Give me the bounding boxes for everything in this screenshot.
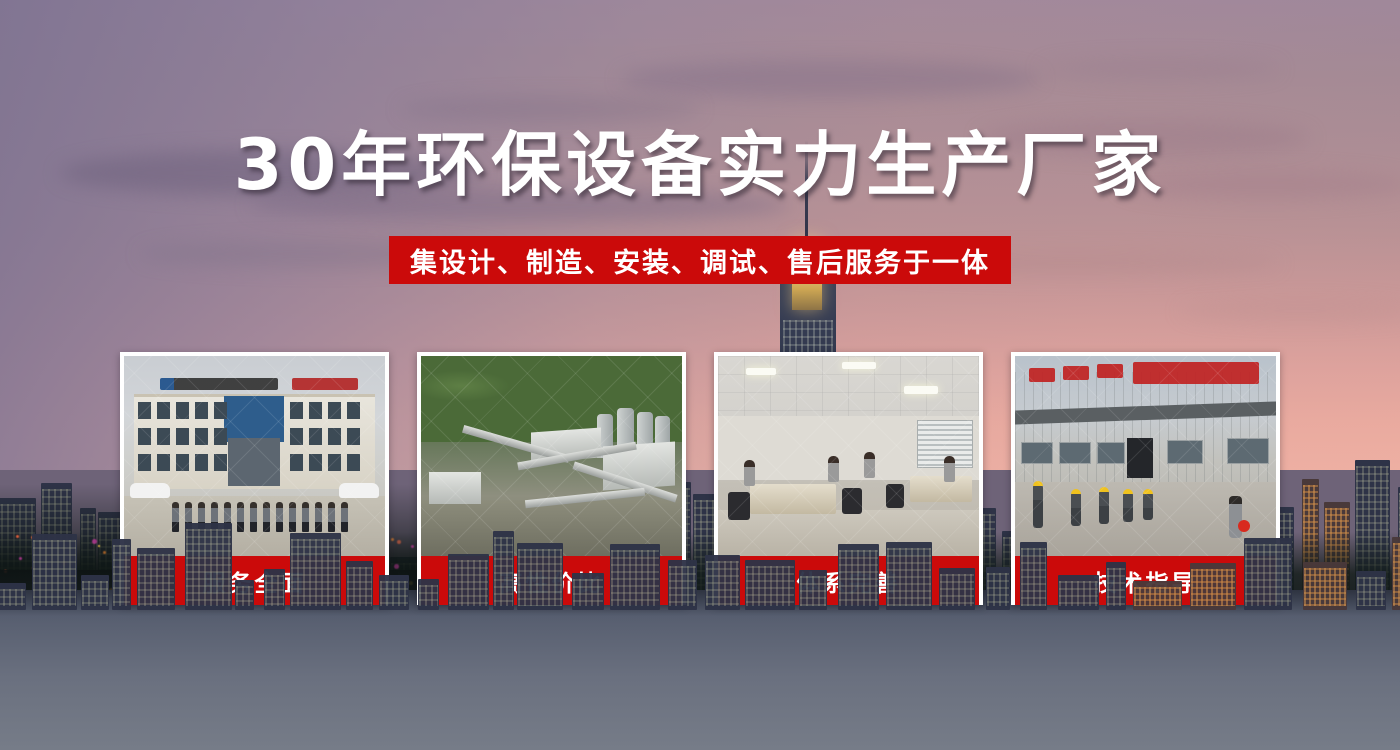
- desk: [750, 484, 836, 514]
- building-window: [176, 454, 189, 471]
- office-chair: [886, 484, 904, 508]
- river-water: [0, 590, 1400, 750]
- card-photo-headquarters: [124, 356, 385, 556]
- building: [986, 567, 1010, 610]
- building: [81, 575, 109, 610]
- building: [448, 554, 489, 610]
- staff-member: [250, 502, 257, 532]
- company-sign: [160, 378, 278, 390]
- plant-hall: [429, 472, 481, 504]
- office-worker: [864, 452, 875, 478]
- building: [517, 543, 563, 610]
- building-window: [309, 402, 322, 419]
- card-photo-office: [718, 356, 979, 556]
- building: [1303, 562, 1347, 610]
- hardhat-icon: [1033, 481, 1043, 486]
- factory-slogan-large: [1133, 362, 1259, 384]
- building: [886, 542, 932, 610]
- building-window: [138, 428, 151, 445]
- building: [264, 569, 285, 610]
- staff-member: [341, 502, 348, 532]
- building-window: [309, 454, 322, 471]
- building-window: [157, 402, 170, 419]
- building-atrium-glass: [224, 396, 284, 442]
- factory-door: [1127, 438, 1153, 478]
- street-light: [92, 539, 97, 544]
- building: [1020, 542, 1047, 610]
- building: [838, 544, 879, 610]
- building-window: [176, 402, 189, 419]
- building: [0, 583, 26, 610]
- building-window: [347, 428, 360, 445]
- building-entrance: [228, 438, 280, 486]
- phone-number-sign: [292, 378, 358, 390]
- building-window: [157, 428, 170, 445]
- page-title: 30年环保设备实力生产厂家: [0, 128, 1400, 204]
- factory-slogan-small: [1063, 366, 1089, 380]
- card-photo-plant: [421, 356, 682, 556]
- worker: [1033, 484, 1043, 528]
- building: [137, 548, 175, 610]
- desk: [910, 476, 972, 502]
- worker: [1143, 492, 1153, 520]
- street-light: [103, 551, 106, 554]
- cloud: [1040, 58, 1280, 80]
- hardhat-icon: [1099, 487, 1109, 492]
- building-window: [195, 454, 208, 471]
- building: [705, 555, 740, 610]
- street-light: [19, 557, 22, 560]
- card-photo-factory: [1015, 356, 1276, 556]
- building-window: [176, 428, 189, 445]
- factory-window: [1167, 440, 1203, 464]
- building-window: [138, 402, 151, 419]
- building: [346, 561, 373, 610]
- building: [235, 580, 254, 610]
- staff-member: [289, 502, 296, 532]
- ceiling-light: [746, 368, 776, 375]
- factory-slogan-small: [1029, 368, 1055, 382]
- staff-member: [302, 502, 309, 532]
- building-window: [347, 402, 360, 419]
- factory-window: [1059, 442, 1091, 464]
- staff-member: [263, 502, 270, 532]
- building: [379, 575, 409, 610]
- building: [1058, 575, 1099, 610]
- building: [185, 523, 232, 610]
- factory-window: [1097, 442, 1125, 464]
- building: [572, 573, 604, 610]
- building-window: [157, 454, 170, 471]
- building: [745, 560, 795, 610]
- building-window: [309, 428, 322, 445]
- ceiling-light: [842, 362, 876, 369]
- office-worker: [744, 460, 755, 486]
- building-window: [214, 428, 227, 445]
- building: [1356, 571, 1386, 610]
- staff-member: [172, 502, 179, 532]
- subtitle-text: 集设计、制造、安装、调试、售后服务于一体: [410, 241, 990, 280]
- office-chair: [728, 492, 750, 520]
- building-window: [214, 402, 227, 419]
- supervisor: [1229, 496, 1242, 538]
- parked-car: [130, 483, 170, 498]
- building-window: [290, 402, 303, 419]
- staff-member: [328, 502, 335, 532]
- hardhat-icon: [1123, 489, 1133, 494]
- building: [493, 531, 514, 610]
- building: [32, 534, 77, 610]
- street-light: [16, 535, 19, 538]
- cloud: [400, 96, 700, 122]
- worker: [1123, 492, 1133, 522]
- hardhat-icon: [1143, 489, 1153, 494]
- building-window: [347, 454, 360, 471]
- factory-slogan-small: [1097, 364, 1123, 378]
- building-window: [328, 454, 341, 471]
- building: [418, 579, 439, 610]
- building: [939, 568, 975, 610]
- street-light: [98, 545, 100, 547]
- office-worker: [944, 456, 955, 482]
- building: [1106, 562, 1126, 610]
- promo-banner: 30年环保设备实力生产厂家 集设计、制造、安装、调试、售后服务于一体 服务全面: [0, 0, 1400, 750]
- building-window: [290, 454, 303, 471]
- feature-card-guidance[interactable]: 技术指导: [1011, 352, 1280, 605]
- staff-member: [237, 502, 244, 532]
- building-window: [195, 402, 208, 419]
- worker: [1099, 490, 1109, 524]
- factory-window: [1021, 442, 1053, 464]
- staff-member: [276, 502, 283, 532]
- hardhat-icon: [1071, 489, 1081, 494]
- building: [1392, 537, 1400, 610]
- building: [799, 570, 827, 610]
- cloud: [620, 60, 1040, 98]
- building-window: [328, 428, 341, 445]
- staff-member: [315, 502, 322, 532]
- building: [1133, 581, 1182, 610]
- parked-car: [339, 483, 379, 498]
- building-window: [214, 454, 227, 471]
- subtitle-banner: 集设计、制造、安装、调试、售后服务于一体: [389, 236, 1011, 284]
- building: [290, 533, 341, 610]
- building-window: [195, 428, 208, 445]
- building: [112, 539, 131, 610]
- building: [610, 544, 660, 610]
- building: [1244, 538, 1292, 610]
- office-worker: [828, 456, 839, 482]
- factory-window: [1227, 438, 1269, 464]
- building-window: [328, 402, 341, 419]
- building: [1190, 563, 1236, 610]
- building: [668, 560, 697, 610]
- office-chair: [842, 488, 862, 514]
- building-window: [138, 454, 151, 471]
- ceiling-light: [904, 386, 938, 394]
- red-helmet-icon: [1238, 520, 1250, 532]
- building-window: [290, 428, 303, 445]
- worker: [1071, 492, 1081, 526]
